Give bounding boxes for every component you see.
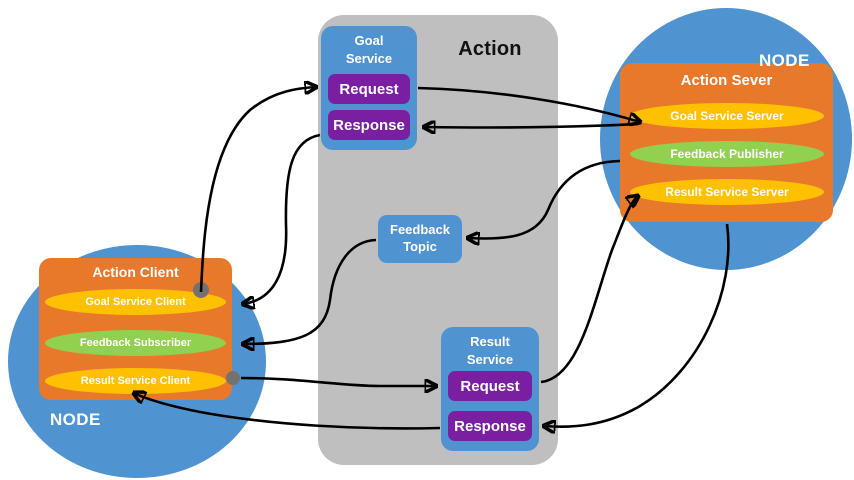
action-client-group: Action Client Goal Service Client Feedba… (39, 258, 232, 400)
goal-service-title-line2: Service (346, 51, 392, 66)
goal-service-title-line1: Goal (355, 33, 384, 48)
goal-service-request[interactable]: Request (328, 74, 410, 104)
pill-feedback-publisher[interactable]: Feedback Publisher (630, 141, 824, 167)
goal-service-title: Goal Service (321, 32, 417, 67)
arrow-response-to-goal-client (243, 135, 320, 304)
pill-result-service-server[interactable]: Result Service Server (630, 179, 824, 205)
result-service-box: Result Service Request Response (441, 327, 539, 451)
action-server-title: Action Sever (620, 72, 833, 89)
feedback-topic-title-line2: Topic (403, 239, 437, 256)
result-service-title-line2: Service (467, 352, 513, 367)
goal-service-response[interactable]: Response (328, 110, 410, 140)
action-server-group: Action Sever Goal Service Server Feedbac… (620, 63, 833, 222)
client-node-label: NODE (50, 410, 101, 430)
result-service-title: Result Service (441, 333, 539, 368)
server-node-label: NODE (759, 51, 810, 71)
feedback-topic-box[interactable]: Feedback Topic (378, 215, 462, 263)
diagram-canvas: Action NODE NODE Action Client Goal Serv… (0, 0, 854, 480)
action-group-title: Action (430, 38, 550, 61)
connector-dot-goal-client (193, 282, 209, 298)
feedback-topic-title-line1: Feedback (390, 222, 450, 239)
result-service-response[interactable]: Response (448, 411, 532, 441)
pill-feedback-subscriber[interactable]: Feedback Subscriber (45, 330, 226, 356)
pill-result-service-client[interactable]: Result Service Client (45, 368, 226, 394)
goal-service-box: Goal Service Request Response (321, 26, 417, 150)
pill-goal-service-server[interactable]: Goal Service Server (630, 103, 824, 129)
result-service-request[interactable]: Request (448, 371, 532, 401)
result-service-title-line1: Result (470, 334, 510, 349)
action-client-title: Action Client (39, 264, 232, 280)
connector-dot-result-client (226, 371, 240, 385)
